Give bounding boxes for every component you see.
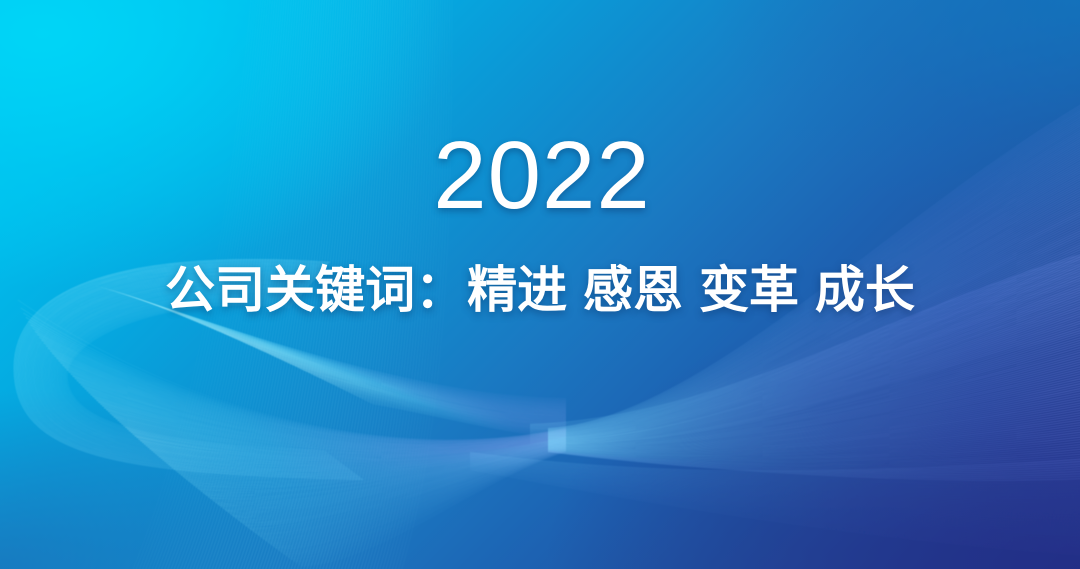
keywords-headline: 公司关键词：精进 感恩 变革 成长 <box>0 261 1080 319</box>
text-content: 2022 公司关键词：精进 感恩 变革 成长 <box>0 0 1080 569</box>
keyword-biange: 变革 <box>699 262 799 318</box>
keyword-chengzhang: 成长 <box>815 262 915 318</box>
keyword-jingjin: 精进 <box>467 262 567 318</box>
keyword-ganen: 感恩 <box>583 262 683 318</box>
year-title: 2022 <box>0 128 1080 224</box>
headline-prefix: 公司关键词： <box>165 262 465 318</box>
banner-2022-keywords: 2022 公司关键词：精进 感恩 变革 成长 <box>0 0 1080 569</box>
